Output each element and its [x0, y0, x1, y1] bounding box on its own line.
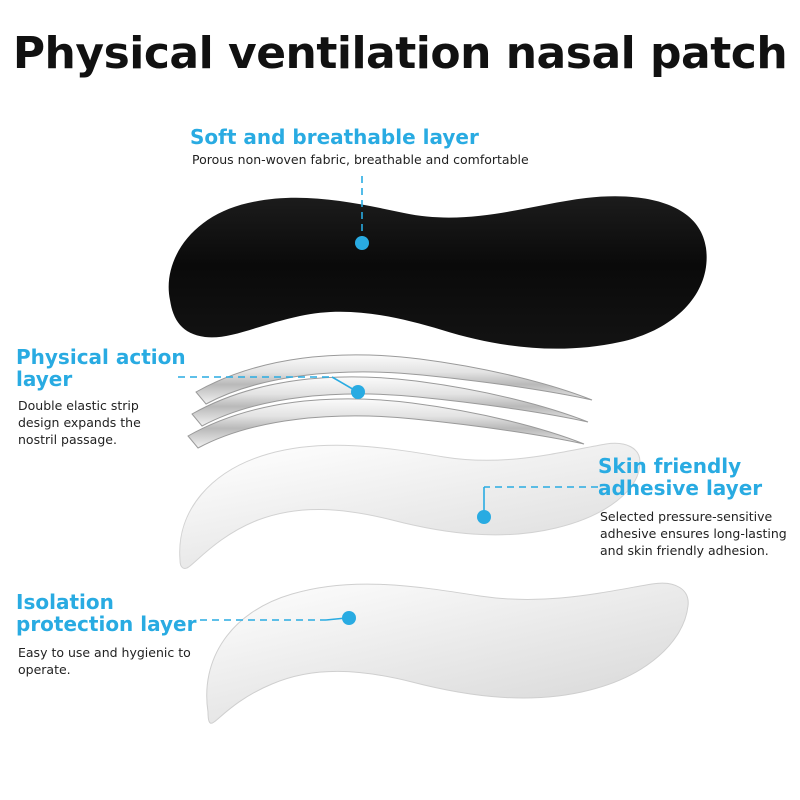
- callout-body-soft-breathable-layer: Porous non-woven fabric, breathable and …: [192, 152, 572, 169]
- callout-body-skin-friendly-adhesive-layer: Selected pressure-sensitive adhesive ens…: [600, 509, 792, 560]
- layer-elastic-strips: [188, 355, 592, 448]
- product-diagram-page: Physical ventilation nasal patch: [0, 0, 800, 800]
- layer-black-fabric: [169, 196, 707, 348]
- layer-adhesive: [180, 443, 640, 568]
- callout-dot-4: [342, 611, 356, 625]
- callout-body-physical-action-layer: Double elastic strip design expands the …: [18, 398, 178, 449]
- callout-dot-1: [355, 236, 369, 250]
- callout-dot-2: [351, 385, 365, 399]
- layer-release-liner: [207, 583, 688, 723]
- callout-heading-soft-breathable-layer: Soft and breathable layer: [190, 126, 479, 148]
- callout-body-isolation-protection-layer: Easy to use and hygienic to operate.: [18, 645, 223, 679]
- callout-heading-physical-action-layer: Physical action layer: [16, 346, 196, 391]
- callout-dot-3: [477, 510, 491, 524]
- callout-heading-isolation-protection-layer: Isolation protection layer: [16, 591, 216, 636]
- callout-heading-skin-friendly-adhesive-layer: Skin friendly adhesive layer: [598, 455, 798, 500]
